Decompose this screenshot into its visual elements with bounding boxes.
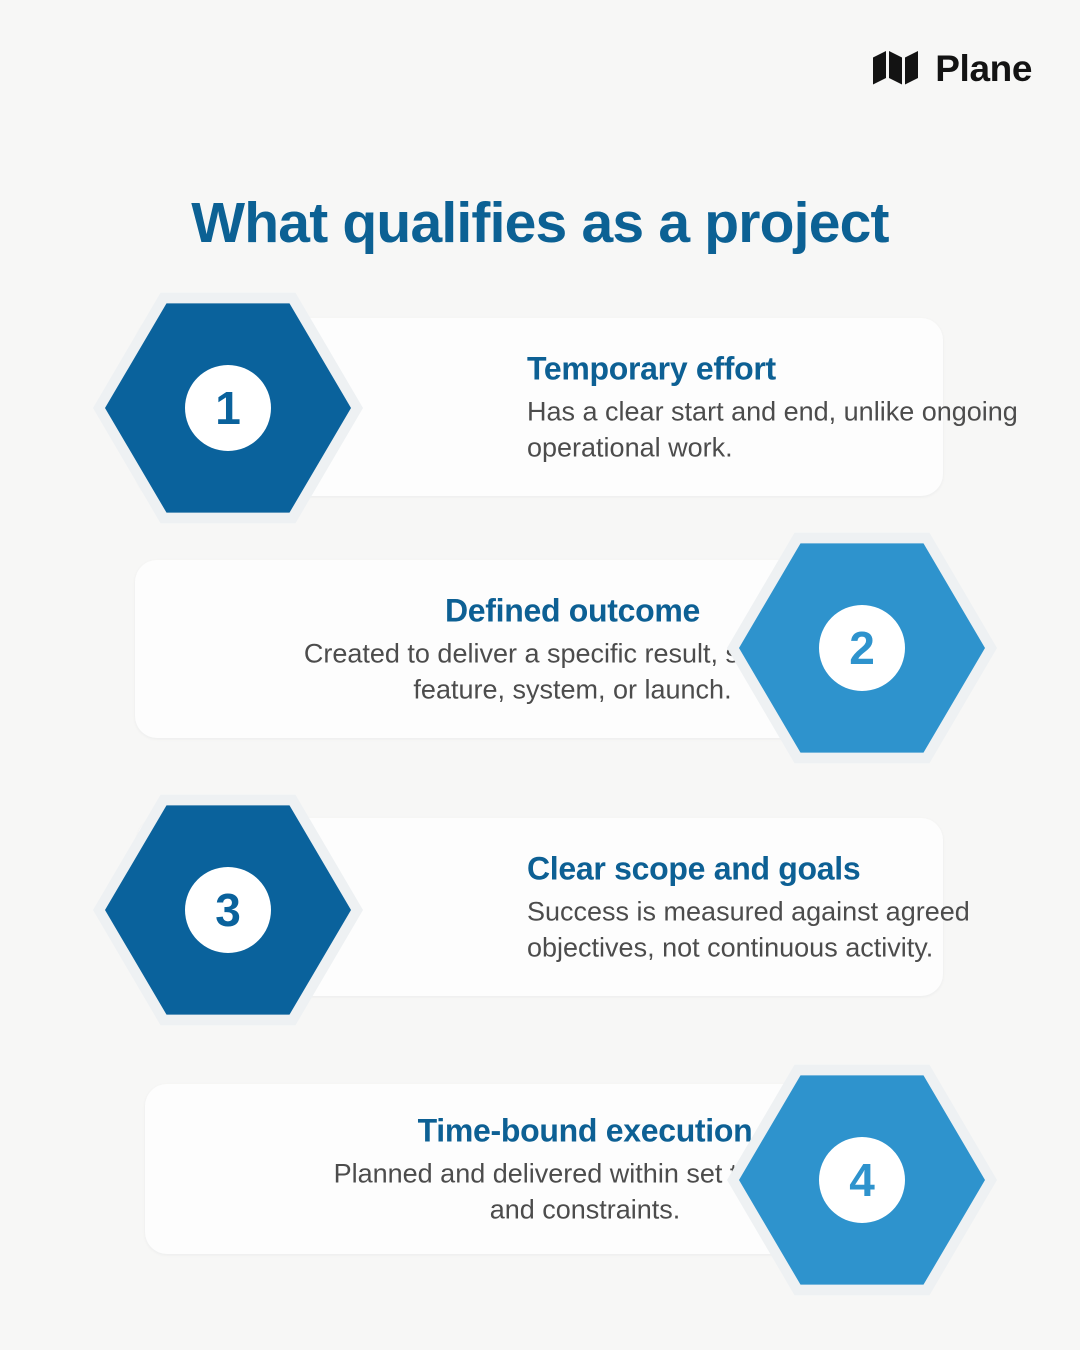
item-description: Has a clear start and end, unlike ongoin… [527, 394, 1057, 465]
brand-lockup: Plane [871, 48, 1032, 88]
plane-logo-icon [871, 48, 923, 88]
item-text-block: Clear scope and goals Success is measure… [527, 848, 1057, 965]
step-number-circle: 2 [819, 605, 905, 691]
step-badge-hexagon: 1 [93, 288, 363, 528]
item-description: Success is measured against agreed objec… [527, 894, 1057, 965]
step-number: 3 [215, 887, 241, 933]
step-number: 2 [849, 625, 875, 671]
item-title: Temporary effort [527, 348, 1057, 388]
item-title: Clear scope and goals [527, 848, 1057, 888]
brand-name: Plane [935, 50, 1032, 87]
list-item: Defined outcome Created to deliver a spe… [0, 522, 1080, 782]
step-number-circle: 1 [185, 365, 271, 451]
step-number: 1 [215, 385, 241, 431]
page-title: What qualifies as a project [0, 191, 1080, 257]
list-item: Temporary effort Has a clear start and e… [0, 288, 1080, 548]
step-badge-hexagon: 3 [93, 790, 363, 1030]
step-number: 4 [849, 1157, 875, 1203]
step-badge-hexagon: 2 [727, 528, 997, 768]
item-text-block: Temporary effort Has a clear start and e… [527, 348, 1057, 465]
list-item: Time-bound execution Planned and deliver… [0, 1046, 1080, 1306]
list-item: Clear scope and goals Success is measure… [0, 790, 1080, 1050]
step-badge-hexagon: 4 [727, 1060, 997, 1300]
step-number-circle: 4 [819, 1137, 905, 1223]
step-number-circle: 3 [185, 867, 271, 953]
